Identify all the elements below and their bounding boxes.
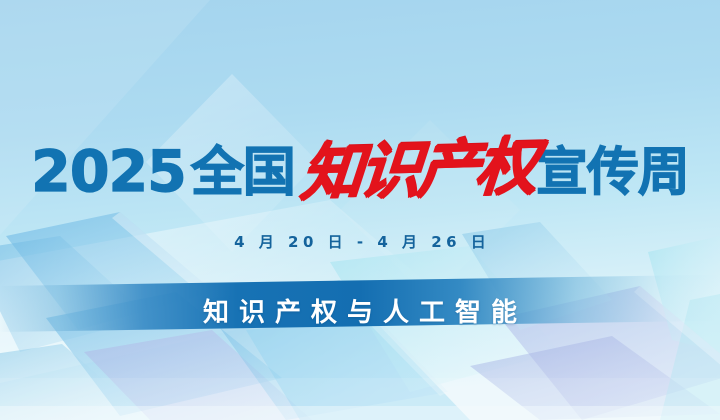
title-nationwide: 全国: [191, 148, 295, 198]
date-range: 4 月 20 日 - 4 月 26 日: [0, 231, 720, 252]
title-week: 宣传周: [536, 149, 689, 198]
main-title: 2025 全国 知识产权 宣传周: [0, 122, 720, 198]
ip-week-banner: 2025 全国 知识产权 宣传周 4 月 20 日 - 4 月 26 日 知识产…: [0, 0, 720, 420]
subtitle-theme: 知识产权与人工智能: [0, 292, 720, 329]
title-year: 2025: [31, 146, 186, 198]
title-calligraphy: 知识产权: [299, 138, 536, 201]
background-decoration: [0, 0, 720, 420]
